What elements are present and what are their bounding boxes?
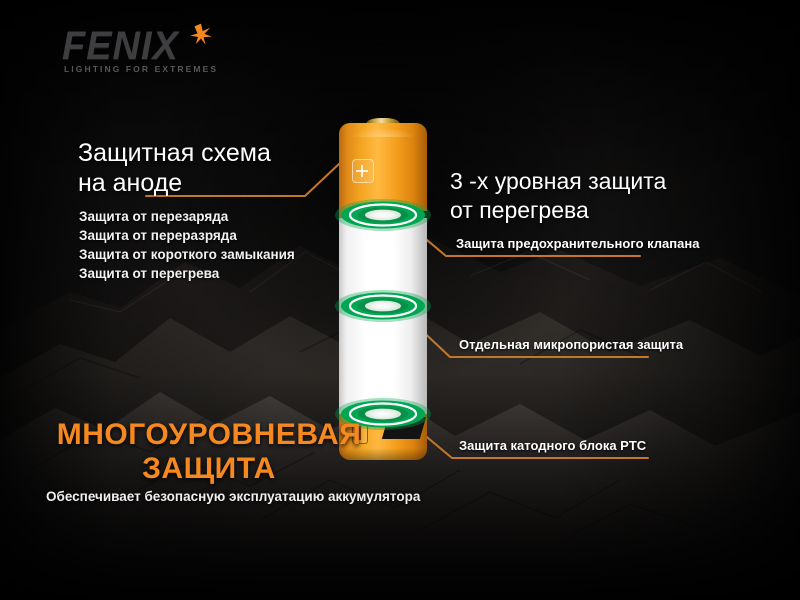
footer-title-line2: ЗАЩИТА	[44, 452, 374, 486]
footer-title-line1: МНОГОУРОВНЕВАЯ	[44, 418, 374, 452]
star-icon	[188, 22, 214, 48]
fenix-logo: FENIX LIGHTING FOR EXTREMES	[62, 26, 262, 72]
right-heading-line2: от перегрева	[450, 196, 770, 225]
promo-banner: FENIX LIGHTING FOR EXTREMES	[0, 0, 800, 600]
brand-tagline: LIGHTING FOR EXTREMES	[64, 64, 218, 74]
left-heading-line2: на аноде	[78, 168, 358, 198]
bullet-short-circuit: Защита от короткого замыкания	[79, 245, 389, 264]
left-bullet-list: Защита от перезаряда Защита от переразря…	[79, 207, 389, 283]
footer-title: МНОГОУРОВНЕВАЯ ЗАЩИТА	[44, 418, 374, 486]
bullet-overcharge: Защита от перезаряда	[79, 207, 389, 226]
left-heading: Защитная схема на аноде	[78, 138, 358, 198]
right-heading-line1: 3 -х уровная защита	[450, 167, 770, 196]
label-safety-valve-protection: Защита предохранительного клапана	[456, 236, 699, 251]
bullet-overdischarge: Защита от переразряда	[79, 226, 389, 245]
bullet-overheat: Защита от перегрева	[79, 264, 389, 283]
footer-subtitle: Обеспечивает безопасную эксплуатацию акк…	[46, 489, 420, 504]
right-heading: 3 -х уровная защита от перегрева	[450, 167, 770, 225]
left-heading-line1: Защитная схема	[78, 138, 358, 168]
label-ptc-cathode-protection: Защита катодного блока PTC	[459, 438, 646, 453]
label-micropore-protection: Отдельная микропористая защита	[459, 337, 683, 352]
brand-name: FENIX	[62, 26, 262, 66]
protection-ring-2	[333, 288, 433, 324]
